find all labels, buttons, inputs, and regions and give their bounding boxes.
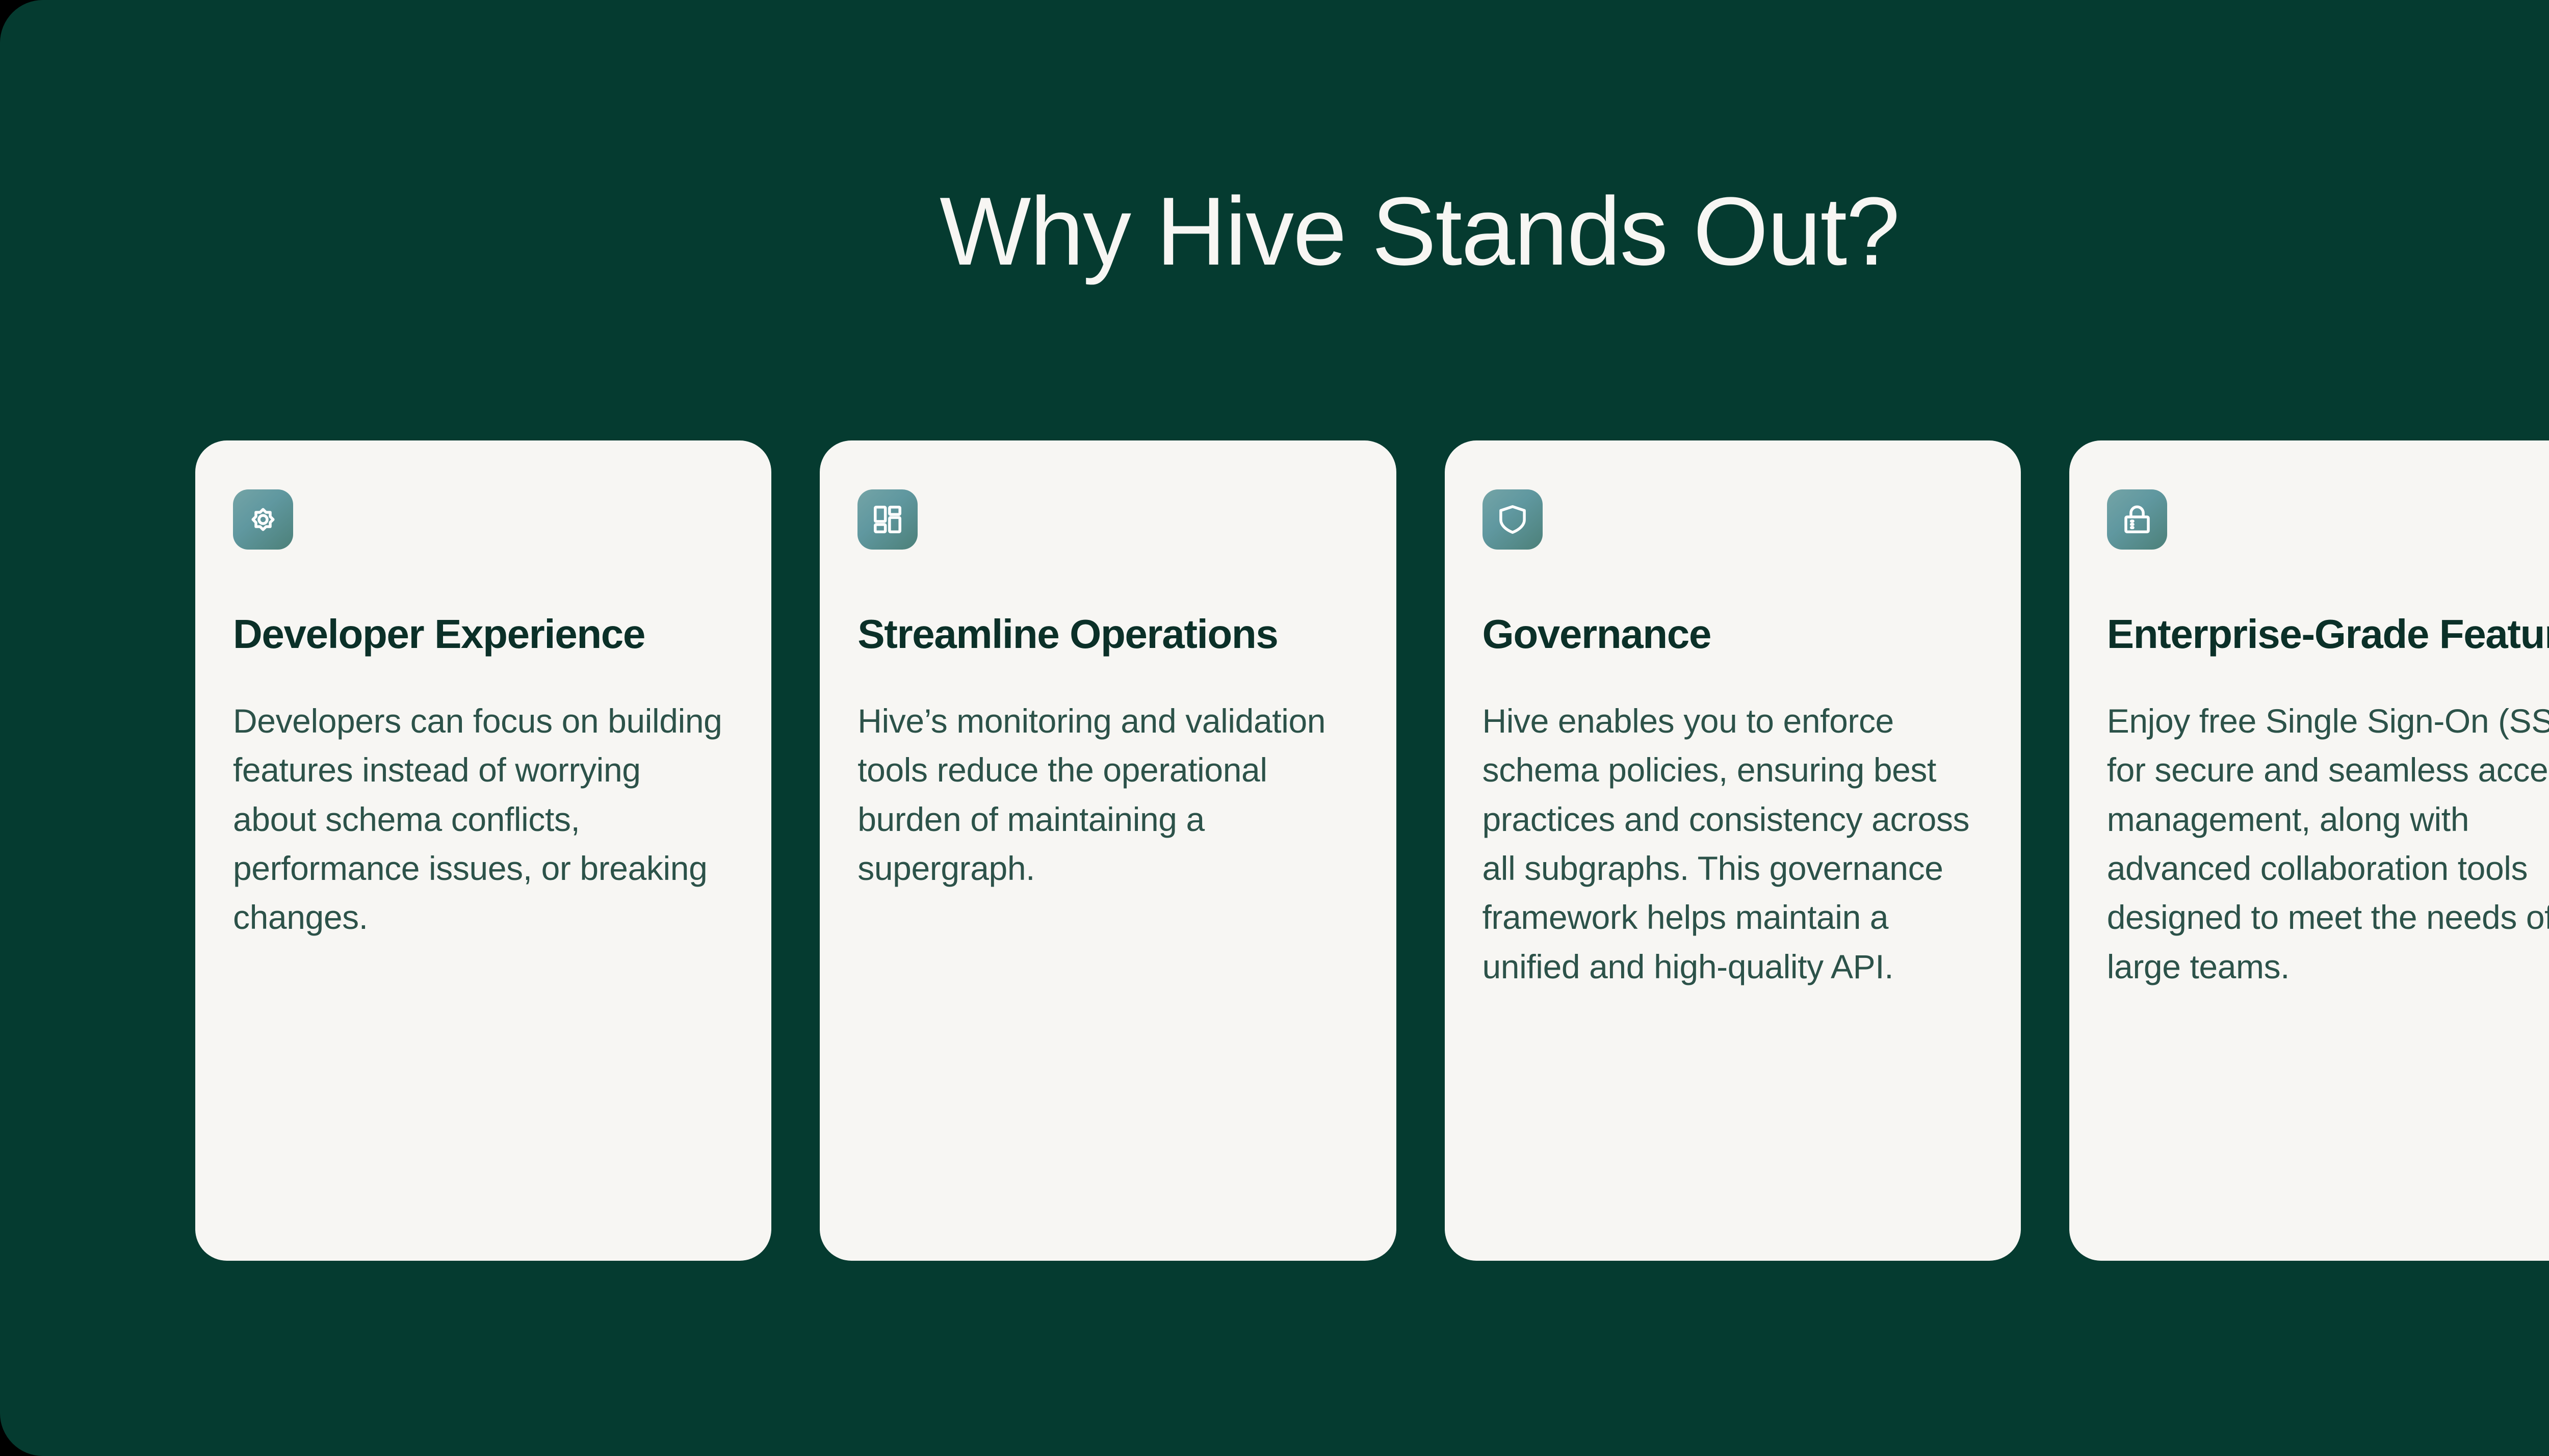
lock-icon — [2120, 503, 2154, 536]
shield-icon — [1496, 503, 1529, 536]
page-root: Why Hive Stands Out? Developer Experienc… — [0, 0, 2549, 1456]
card-title: Enterprise-Grade Features — [2107, 606, 2549, 663]
card-title: Developer Experience — [233, 606, 645, 663]
card-body: Hive enables you to enforce schema polic… — [1482, 696, 1981, 991]
feature-card-enterprise-grade-features[interactable]: Enterprise-Grade Features Enjoy free Sin… — [2069, 440, 2549, 1261]
feature-card-streamline-operations[interactable]: Streamline Operations Hive’s monitoring … — [820, 440, 1396, 1261]
card-title: Streamline Operations — [857, 606, 1278, 663]
shield-icon-badge — [1482, 489, 1543, 550]
feature-card-governance[interactable]: Governance Hive enables you to enforce s… — [1445, 440, 2021, 1261]
feature-card-developer-experience[interactable]: Developer Experience Developers can focu… — [195, 440, 771, 1261]
layout-dashboard-icon-badge — [857, 489, 918, 550]
card-body: Developers can focus on building feature… — [233, 696, 732, 942]
layout-dashboard-icon — [871, 503, 904, 536]
card-body: Enjoy free Single Sign-On (SSO) for secu… — [2107, 696, 2549, 991]
card-title: Governance — [1482, 606, 1711, 663]
lock-icon-badge — [2107, 489, 2167, 550]
settings-gear-icon — [246, 503, 280, 536]
card-body: Hive’s monitoring and validation tools r… — [857, 696, 1356, 893]
feature-card-grid: Developer Experience Developers can focu… — [195, 440, 2549, 1261]
page-title: Why Hive Stands Out? — [0, 179, 2549, 284]
settings-gear-icon-badge — [233, 489, 293, 550]
